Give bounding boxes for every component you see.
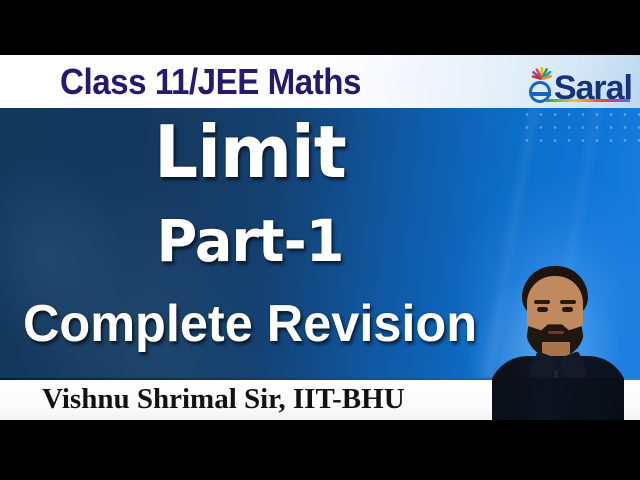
presenter-mouth xyxy=(548,331,564,334)
esaral-logo: Saral xyxy=(526,61,632,103)
letterbox-bottom xyxy=(0,420,640,480)
presenter-overlap-footer xyxy=(470,378,640,420)
presenter-torso-overlay xyxy=(492,378,624,420)
headline-part: Part-1 xyxy=(10,212,490,270)
presenter-eye-right xyxy=(562,307,573,312)
course-title: Class 11/JEE Maths xyxy=(60,64,361,100)
esaral-logo-mark xyxy=(526,67,556,103)
presenter-eyebrow-left xyxy=(534,300,550,304)
headline-topic: Limit xyxy=(10,116,490,188)
letterbox-top xyxy=(0,0,640,55)
video-thumbnail: Limit Part-1 Complete Revision eSaral xyxy=(0,0,640,480)
headline-subtitle: Complete Revision xyxy=(8,298,493,350)
presenter-eyebrow-right xyxy=(560,300,576,304)
presenter-eye-left xyxy=(537,307,548,312)
stage-background: Limit Part-1 Complete Revision eSaral xyxy=(0,108,640,420)
presenter-credit: Vishnu Shrimal Sir, IIT-BHU xyxy=(42,383,405,416)
header-bar: Class 11/JEE Maths Saral xyxy=(0,55,640,108)
headline-block: Limit Part-1 Complete Revision xyxy=(0,108,500,420)
logo-rainbow-underline xyxy=(546,99,630,102)
dot-grid-pattern xyxy=(520,108,640,150)
